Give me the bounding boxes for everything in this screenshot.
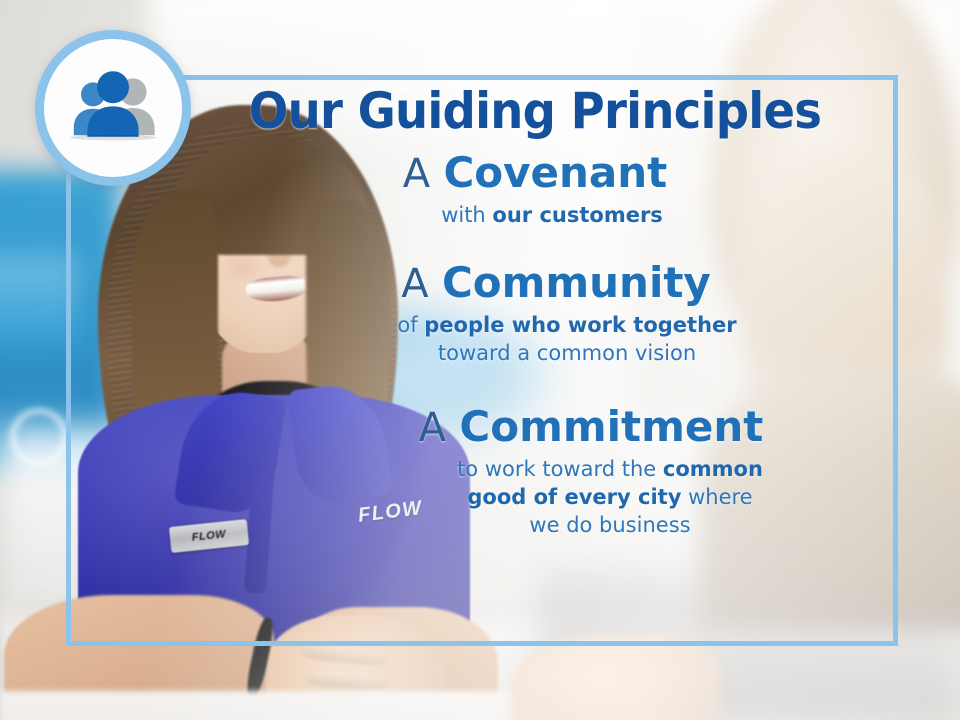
dealership-display-panel-lower [0, 255, 80, 345]
desk-edge [0, 691, 560, 720]
principle-title: A Community [180, 260, 890, 306]
principle-keyword: Commitment [459, 402, 763, 451]
guiding-principles-banner: FLOW FLOW [0, 0, 960, 720]
people-group-icon [65, 60, 161, 156]
principle-article: A [403, 151, 430, 197]
principle-keyword: Community [442, 258, 711, 307]
principle-covenant: A Covenant with our customers [180, 150, 890, 230]
people-group-badge [35, 30, 191, 186]
principle-subtext: of people who work togethertoward a comm… [180, 312, 890, 368]
customer-hand [510, 636, 720, 720]
principle-article: A [419, 405, 446, 451]
principle-subtext: to work toward the commongood of every c… [180, 456, 890, 540]
principle-community: A Community of people who work togethert… [180, 260, 890, 368]
page-title: Our Guiding Principles [205, 86, 865, 136]
principle-title: A Commitment [180, 404, 890, 450]
principle-title: A Covenant [180, 150, 890, 196]
principle-keyword: Covenant [443, 148, 667, 197]
banner-content: Our Guiding Principles A Covenant with o… [180, 86, 890, 540]
principle-commitment: A Commitment to work toward the commongo… [180, 404, 890, 540]
principle-subtext: with our customers [180, 202, 890, 230]
principle-article: A [401, 261, 428, 307]
